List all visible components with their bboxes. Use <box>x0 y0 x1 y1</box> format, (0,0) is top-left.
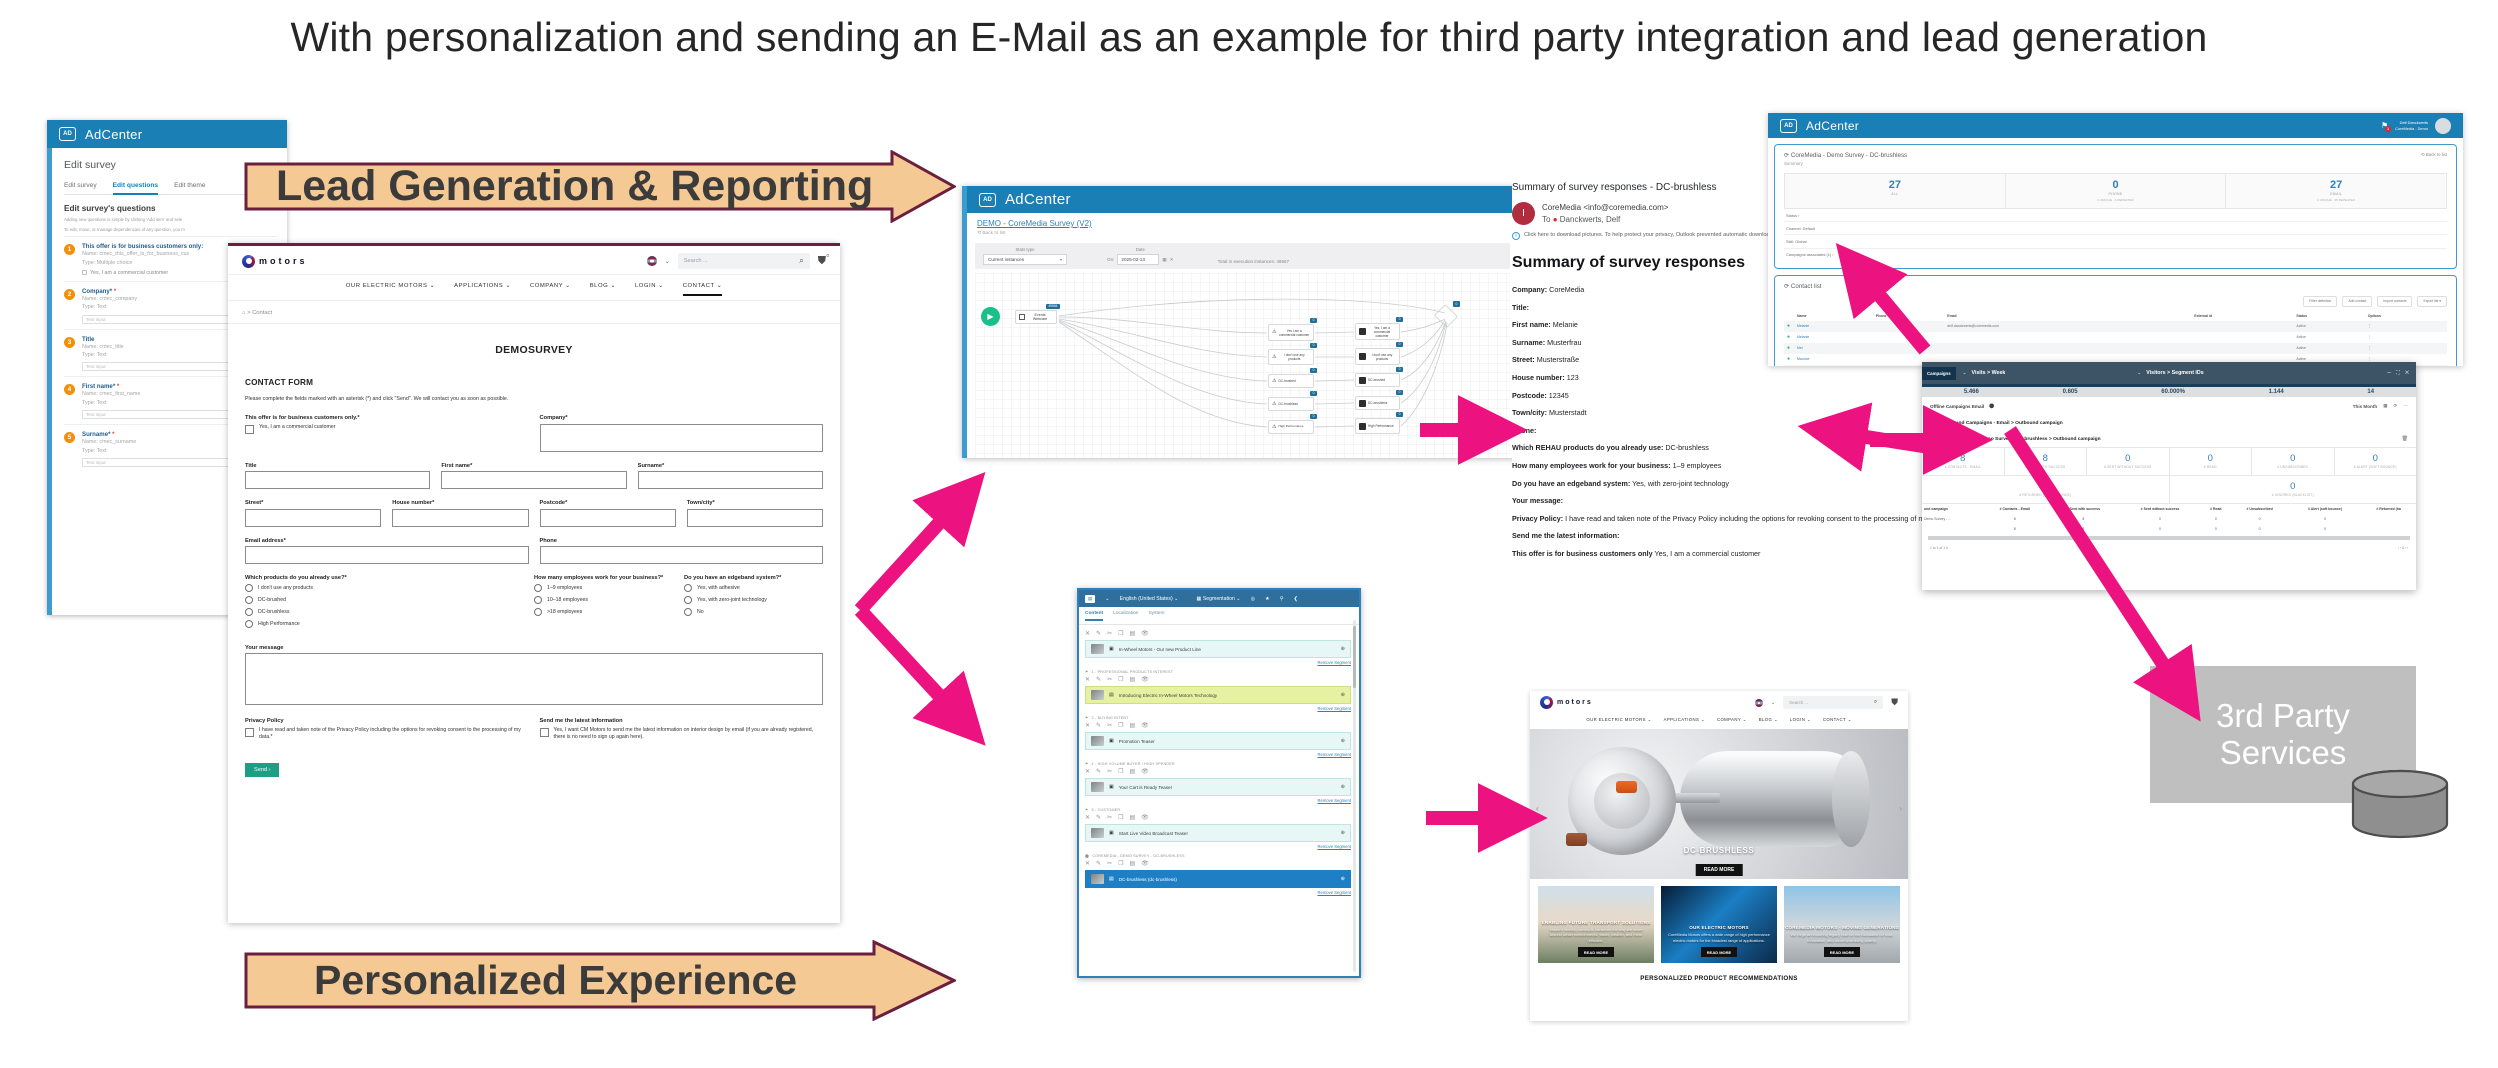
business-customer-checkbox[interactable]: Yes, I am a commercial customer <box>245 424 529 434</box>
products-label: Which products do you already use?* <box>245 575 523 581</box>
delete-icon[interactable]: 🗑 <box>2402 436 2408 442</box>
email-field[interactable] <box>245 546 529 564</box>
recommendation-card[interactable]: OUR ELECTRIC MOTORS CoreMedia Motors off… <box>1661 886 1777 963</box>
nav-item-contact[interactable]: CONTACT ⌄ <box>683 283 722 296</box>
cut-icon[interactable]: ✂ <box>1107 860 1112 867</box>
questions-note-2: To edit, move, or manage dependencies of… <box>64 226 277 233</box>
recommendation-card[interactable]: COREMEDIA MOTORS - MOVING GENERATIONS We… <box>1784 886 1900 963</box>
adcenter-titlebar: AD AdCenter <box>47 120 287 148</box>
table-row[interactable]: Demo Survey - ... 8 8 0 0 0 0 <box>1922 514 2416 524</box>
segment-toolbar[interactable]: ✕✎✂❐▤👁 <box>1085 676 1351 683</box>
segment-header-label: 4 - HIGH VOLUME BUYER / HIGH SPENDER <box>1092 762 1175 766</box>
cut-icon[interactable]: ✂ <box>1107 630 1112 637</box>
dashboard-detail-rows: Status › Channel: Default Skill: Global … <box>1784 209 2447 261</box>
personalized-experience-banner-label: Personalized Experience <box>244 940 956 1021</box>
cut-icon[interactable]: ✂ <box>1107 722 1112 729</box>
edit-icon[interactable]: ✎ <box>1096 814 1101 821</box>
adcenter-app-title: AdCenter <box>85 127 142 142</box>
paste-icon[interactable]: ▤ <box>1129 814 1135 821</box>
hero-caption: DC-BRUSHLESS <box>1530 846 1908 855</box>
globe-icon[interactable]: ⊕ <box>1341 784 1345 790</box>
horizontal-scrollbar[interactable] <box>1928 536 2410 540</box>
edgeband-option[interactable]: Yes, with adhesive <box>684 584 823 592</box>
col-options[interactable]: Options <box>2365 312 2447 321</box>
nav-item-applications[interactable]: APPLICATIONS ⌄ <box>1664 717 1705 723</box>
checkbox-icon[interactable] <box>540 728 549 737</box>
vertical-scrollbar[interactable] <box>1353 620 1356 972</box>
campaign-row-label: ... > CoreMedia - Demo Survey - DC-brush… <box>1941 437 2101 442</box>
edgeband-label: Do you have an edgeband system?* <box>684 575 823 581</box>
nav-item-applications[interactable]: APPLICATIONS ⌄ <box>454 283 511 296</box>
cell-value: 0 <box>2119 524 2201 534</box>
metric-value: 0.605 <box>2063 389 2078 395</box>
campaign-row-expanded[interactable]: ⌄ ... > CoreMedia - Demo Survey - DC-bru… <box>1922 431 2416 447</box>
import-contacts-button[interactable]: Import contacts <box>2377 296 2412 307</box>
summary-value: Yes, with zero-joint technology <box>1630 479 1729 488</box>
surname-field[interactable] <box>638 471 823 489</box>
kpi-value: 0 <box>2170 453 2252 464</box>
editor-content-list: ✕✎✂❐▤👁 ▣ In-Wheel Motors - Our new Produ… <box>1079 625 1359 978</box>
language-flag-icon[interactable] <box>1755 699 1763 707</box>
cart-icon[interactable]: ⛊ <box>1891 697 1898 708</box>
table-row[interactable]: 8 8 0 0 0 0 <box>1922 524 2416 534</box>
card-read-more-button[interactable]: READ MORE <box>1824 947 1860 957</box>
user-org: CoreMedia - Demo <box>2395 126 2428 131</box>
chevron-right-icon[interactable]: ❯ <box>1930 420 1934 426</box>
nav-item-company[interactable]: COMPANY ⌄ <box>530 283 571 296</box>
tab-edit-theme[interactable]: Edit theme <box>174 182 206 189</box>
campaign-kpi: 8# CONTACTS - EMAIL <box>1922 448 2005 475</box>
phone-field[interactable] <box>540 546 824 564</box>
language-selector[interactable]: English (United States) ⌄ <box>1120 596 1179 602</box>
card-text: CoreMedia Motors offers a wide range of … <box>1661 930 1777 947</box>
content-item[interactable]: ▣ Start Live Video Broadcast Teaser ⊕ <box>1085 824 1351 842</box>
tab-edit-survey[interactable]: Edit survey <box>64 182 97 189</box>
col-sent-success[interactable]: # Sent with success <box>2048 504 2119 514</box>
house-number-field[interactable] <box>392 509 528 527</box>
remove-segment-link[interactable]: Remove Segment <box>1085 706 1351 711</box>
cell-email: delf.danckwerts@coremedia.com <box>1944 321 2191 332</box>
cell-phone <box>1873 321 1944 332</box>
radio-icon[interactable] <box>534 584 542 592</box>
eye-icon[interactable]: 👁 <box>1141 630 1149 637</box>
search-input[interactable]: Search ... ⌕ <box>1783 696 1883 709</box>
adcenter-titlebar: AD AdCenter <box>967 186 1518 213</box>
col-unsubscribed[interactable]: # Unsubscribed <box>2231 504 2289 514</box>
checkbox-icon[interactable] <box>245 728 254 737</box>
nav-item-company[interactable]: COMPANY ⌄ <box>1717 717 1747 723</box>
cell-options[interactable]: ⋮ <box>2365 321 2447 332</box>
radio-icon[interactable] <box>534 608 542 616</box>
copy-icon[interactable]: ❐ <box>1118 722 1123 729</box>
detail-row-status[interactable]: Status › <box>1784 209 2447 222</box>
globe-icon[interactable]: ⊕ <box>1341 646 1345 652</box>
col-phone[interactable]: Phone <box>1873 312 1944 321</box>
recommendation-card[interactable]: ENABLING FUTURE TRANSPORT SOLUTIONS Mode… <box>1538 886 1654 963</box>
col-email[interactable]: Email <box>1944 312 2191 321</box>
table-row[interactable]: ●MelActive⋮ <box>1784 343 2447 354</box>
cell-value: 8 <box>1982 524 2048 534</box>
radio-icon[interactable] <box>245 584 253 592</box>
kpi-label: # IGNORED (BLACKLIST) <box>2170 493 2417 497</box>
privacy-checkbox[interactable]: I have read and taken note of the Privac… <box>245 727 529 741</box>
segment-icon: ⬤ <box>1085 854 1089 858</box>
detail-row-campaigns[interactable]: Campaigns associated (1) › <box>1784 249 2447 261</box>
table-row[interactable]: ●Melaniedelf.danckwerts@coremedia.comAct… <box>1784 321 2447 332</box>
cell-email <box>1944 332 2191 343</box>
paste-icon[interactable]: ▤ <box>1129 676 1135 683</box>
search-icon[interactable]: ⌕ <box>799 256 803 266</box>
summary-value: 123 <box>1565 373 1579 382</box>
cart-count: 0 <box>826 253 829 258</box>
copy-icon[interactable]: ❐ <box>1118 676 1123 683</box>
edit-icon[interactable]: ✎ <box>1096 630 1101 637</box>
street-field[interactable] <box>245 509 381 527</box>
language-flag-icon[interactable] <box>647 256 657 266</box>
kpi-value: 0 <box>2006 179 2226 191</box>
remove-segment-link[interactable]: Remove Segment <box>1085 844 1351 849</box>
campaigns-window: Campaigns ⌄ Visits > Week ⌄ Visitors > S… <box>1922 362 2416 590</box>
remove-segment-link[interactable]: Remove Segment <box>1085 890 1351 895</box>
product-option[interactable]: DC-brushless <box>245 608 523 616</box>
nav-item-login[interactable]: LOGIN ⌄ <box>1790 717 1811 723</box>
kpi-value: 27 <box>2226 179 2446 191</box>
bulb-icon[interactable]: ⚲ <box>1280 596 1284 602</box>
remove-segment-link[interactable]: Remove Segment <box>1085 660 1351 665</box>
window-controls[interactable]: ─ ⛶ ✕ <box>2387 370 2416 376</box>
content-item-selected[interactable]: ▤ DC-brushless (dc-brushless) ⊕ <box>1085 870 1351 888</box>
site-nav[interactable]: OUR ELECTRIC MOTORS ⌄ APPLICATIONS ⌄ COM… <box>228 274 840 300</box>
cell-value: 8 <box>1982 514 2048 524</box>
col-campaign[interactable]: und campaign <box>1922 504 1982 514</box>
cell-value: 8 <box>2048 524 2119 534</box>
radio-icon[interactable] <box>684 596 692 604</box>
clear-icon[interactable]: ✕ <box>1085 676 1090 683</box>
phone-label: Phone <box>540 538 824 544</box>
edit-icon[interactable]: ✎ <box>1096 768 1101 775</box>
workflow-canvas[interactable]: ▶ Events Webcare 49584 ⚠ Yes I am a comm… <box>975 273 1510 458</box>
remove-segment-link[interactable]: Remove Segment <box>1085 752 1351 757</box>
col-returned[interactable]: # Returned (ha <box>2361 504 2416 514</box>
summary-value: Yes, I am a commercial customer <box>1653 549 1761 558</box>
eye-icon[interactable]: 👁 <box>1141 814 1149 821</box>
summary-key: Phone: <box>1512 426 1536 435</box>
third-party-line-2: Services <box>2216 735 2350 772</box>
segmentation-selector[interactable]: ▦ Segmentation ⌄ <box>1196 596 1240 602</box>
remove-segment-link[interactable]: Remove Segment <box>1085 798 1351 803</box>
table-header-row: und campaign # Contacts - Email # Sent w… <box>1922 504 2416 514</box>
nav-item-our-electric-motors[interactable]: OUR ELECTRIC MOTORS ⌄ <box>1586 717 1651 723</box>
cell-phone <box>1873 332 1944 343</box>
col-contacts-email[interactable]: # Contacts - Email <box>1982 504 2048 514</box>
question-number: 4 <box>64 384 75 395</box>
clear-date-icon[interactable]: ✕ <box>1170 257 1174 263</box>
stats-type-select[interactable]: Current instances <box>983 254 1067 265</box>
kpi-value: 8 <box>2005 453 2087 464</box>
paste-icon[interactable]: ▤ <box>1129 768 1135 775</box>
radio-icon[interactable] <box>245 596 253 604</box>
eye-icon[interactable]: 👁 <box>1141 722 1149 729</box>
postcode-field[interactable] <box>540 509 676 527</box>
nav-item-contact[interactable]: CONTACT ⌄ <box>1823 717 1852 723</box>
export-list-button[interactable]: Export list ▾ <box>2417 296 2447 307</box>
search-input[interactable]: Search ... ⌕ <box>678 253 810 269</box>
notifications-icon[interactable]: ⚑1 <box>2381 121 2388 130</box>
cell-value: 0 <box>2201 524 2231 534</box>
calendar-icon[interactable]: ▦ <box>1162 257 1166 263</box>
paste-icon[interactable]: ▤ <box>1129 860 1135 867</box>
summary-key: First name: <box>1512 320 1551 329</box>
employees-option-label: 1–9 employees <box>547 585 582 591</box>
view-mode-icon[interactable]: ▤ <box>1085 595 1095 603</box>
metric-visits[interactable]: ⌄ Visits > Week <box>1956 370 2006 376</box>
col-read[interactable]: # Read <box>2201 504 2231 514</box>
cell-value: 0 <box>2231 514 2289 524</box>
adcenter-logo-icon: AD <box>1780 119 1797 133</box>
cell-name[interactable]: Melanie <box>1794 321 1873 332</box>
question-number: 1 <box>64 244 75 255</box>
title-field[interactable] <box>245 471 430 489</box>
nav-item-our-electric-motors[interactable]: OUR ELECTRIC MOTORS ⌄ <box>346 283 435 296</box>
town-field[interactable] <box>687 509 823 527</box>
segment-header: ⚑3 - BUYING INTENT <box>1085 716 1351 720</box>
cell-name[interactable]: Melanie <box>1794 332 1873 343</box>
segment-toolbar[interactable]: ✕✎✂❐▤👁 <box>1085 814 1351 821</box>
globe-icon[interactable]: ⊕ <box>1341 692 1345 698</box>
pagination[interactable]: ‹ ‹ 1 › › <box>2398 546 2408 550</box>
employees-option[interactable]: >18 employees <box>534 608 673 616</box>
chevron-down-icon[interactable]: ⌄ <box>665 258 670 265</box>
content-item[interactable]: ▣ Your Cart is Ready Teaser ⊕ <box>1085 778 1351 796</box>
table-row[interactable]: ●MelanieActive⋮ <box>1784 332 2447 343</box>
segment-header: ⬤COREMEDIA - DEMO SURVEY - DC-BRUSHLESS <box>1085 854 1351 858</box>
summary-value: Melanie <box>1551 320 1578 329</box>
radio-icon[interactable] <box>534 596 542 604</box>
avatar[interactable] <box>2435 118 2451 134</box>
checkbox-icon[interactable] <box>82 270 87 275</box>
content-item[interactable]: ▤ Introducing Electric In-Wheel Motors T… <box>1085 686 1351 704</box>
more-options-icon[interactable]: ⋯ <box>2403 403 2408 409</box>
breadcrumb[interactable]: ⌂ > Contact <box>228 300 840 324</box>
favorite-star-icon[interactable]: ★ <box>1265 596 1270 602</box>
segment-toolbar[interactable]: ✕✎✂❐▤👁 <box>1085 860 1351 867</box>
presence-dot-icon: ● <box>1553 215 1558 224</box>
database-cylinder-icon <box>2348 768 2453 843</box>
adcenter-dashboard-window: AD AdCenter ⚑1 Delf Danckwerts CoreMedia… <box>1768 113 2463 366</box>
question-number: 5 <box>64 432 75 443</box>
copy-icon[interactable]: ❐ <box>1118 630 1123 637</box>
contact-list-title: ⟳ Contact list <box>1784 283 2447 290</box>
globe-icon[interactable]: ⊕ <box>1341 830 1345 836</box>
col-name[interactable]: Name <box>1794 312 1873 321</box>
tab-system[interactable]: System <box>1148 611 1164 621</box>
avatar-icon: ⬤ <box>1989 403 1994 409</box>
segment-icon: ⚑ <box>1085 762 1089 766</box>
edgeband-option[interactable]: Yes, with zero-joint technology <box>684 596 823 604</box>
summary-value: CoreMedia <box>1547 285 1584 294</box>
collapse-icon[interactable]: ❮ <box>1294 596 1298 602</box>
cut-icon[interactable]: ✂ <box>1107 676 1112 683</box>
eye-icon[interactable]: 👁 <box>1141 860 1149 867</box>
cut-icon[interactable]: ✂ <box>1107 768 1112 775</box>
campaigns-window-title: Campaigns <box>1922 367 1956 380</box>
copy-icon[interactable]: ❐ <box>1118 814 1123 821</box>
card-read-more-button[interactable]: READ MORE <box>1701 947 1737 957</box>
campaign-row-collapsed[interactable]: ❯ Outbound Campaigns - Email > Outbound … <box>1922 415 2416 431</box>
cm-motors-logo[interactable]: motors <box>1540 696 1593 709</box>
summary-key: Send me the latest information: <box>1512 531 1619 540</box>
tab-edit-questions[interactable]: Edit questions <box>113 182 158 195</box>
content-type-icon: ▣ <box>1109 738 1114 744</box>
clear-icon[interactable]: ✕ <box>1085 768 1090 775</box>
logo-mark-icon <box>242 255 255 268</box>
copy-icon[interactable]: ❐ <box>1118 860 1123 867</box>
cell-name[interactable]: Maurice <box>1794 354 1873 365</box>
card-text: Modern mobility concepts transform the w… <box>1538 925 1654 947</box>
editor-toolbar: ▤ ⌄ English (United States) ⌄ ▦ Segmenta… <box>1079 590 1359 607</box>
content-item[interactable]: ▣ Promotion Teaser ⊕ <box>1085 732 1351 750</box>
col-sent-failure[interactable]: # Sent without success <box>2119 504 2201 514</box>
hero-read-more-button[interactable]: READ MORE <box>1696 864 1743 876</box>
company-field[interactable] <box>540 424 824 452</box>
back-to-list-link[interactable]: ⟲ Back to list <box>977 231 1508 236</box>
globe-icon[interactable]: ⊕ <box>1341 876 1345 882</box>
workflow-title[interactable]: DEMO - CoreMedia Survey (V2) <box>977 219 1508 228</box>
segment-toolbar[interactable]: ✕✎✂❐▤👁 <box>1085 722 1351 729</box>
preview-site-nav[interactable]: OUR ELECTRIC MOTORS ⌄ APPLICATIONS ⌄ COM… <box>1530 712 1908 729</box>
cart-icon[interactable]: ⛊0 <box>818 255 826 268</box>
newsletter-label: Send me the latest information <box>540 718 824 724</box>
edit-icon[interactable]: ✎ <box>1096 722 1101 729</box>
kpi-phone: 0 PHONE 0 UNIQUE · 0 REPEATED <box>2006 174 2227 208</box>
nav-item-login[interactable]: LOGIN ⌄ <box>635 283 664 296</box>
chevron-down-icon[interactable]: ⌄ <box>1930 436 1934 442</box>
checkbox-icon[interactable] <box>245 425 254 434</box>
segment-header: ⚑4 - HIGH VOLUME BUYER / HIGH SPENDER <box>1085 762 1351 766</box>
col-external-id[interactable]: External id <box>2191 312 2293 321</box>
filter-definition-button[interactable]: Filter definition <box>2303 296 2337 307</box>
info-icon: i <box>1512 232 1520 240</box>
radio-icon[interactable] <box>245 608 253 616</box>
motor-terminal-orange <box>1616 781 1637 793</box>
content-type-icon: ▣ <box>1109 830 1114 836</box>
kpi-value: 0 <box>2335 453 2417 464</box>
tab-localization[interactable]: Localization <box>1113 611 1138 621</box>
search-icon[interactable]: ⌕ <box>1874 699 1877 706</box>
arrow-form-to-editor-down <box>860 610 960 718</box>
product-option-label: DC-brushed <box>258 597 286 603</box>
eye-icon[interactable]: 👁 <box>1141 768 1149 775</box>
radio-icon[interactable] <box>245 620 253 628</box>
paste-icon[interactable]: ▤ <box>1129 722 1135 729</box>
eye-icon[interactable]: 👁 <box>1141 676 1149 683</box>
col-status[interactable]: Status <box>2293 312 2364 321</box>
contact-list-actions[interactable]: Filter definition Add contact Import con… <box>1784 296 2447 307</box>
employees-option[interactable]: 10–18 employees <box>534 596 673 604</box>
kpi-label: # READ <box>2170 465 2252 469</box>
content-item[interactable]: ▣ In-Wheel Motors - Our new Product Line… <box>1085 640 1351 658</box>
edgeband-option[interactable]: No <box>684 608 823 616</box>
cell-name[interactable]: Mel <box>1794 343 1873 354</box>
product-option[interactable]: I don't use any products <box>245 584 523 592</box>
editor-tabs[interactable]: Content Localization System <box>1079 607 1359 625</box>
edit-icon[interactable]: ✎ <box>1096 860 1101 867</box>
cut-icon[interactable]: ✂ <box>1107 814 1112 821</box>
radio-icon[interactable] <box>684 608 692 616</box>
cell-name[interactable]: Mani <box>1794 365 1873 366</box>
scrollbar-thumb[interactable] <box>1353 626 1356 688</box>
cell-options[interactable]: ⋮ <box>2365 332 2447 343</box>
campaign-kpi-strip-2: 0# RETURNED (HARD BOUNCE) 0# IGNORED (BL… <box>1922 476 2416 504</box>
employees-label: How many employees work for your busines… <box>534 575 673 581</box>
carousel-prev-icon[interactable]: ‹ <box>1536 804 1539 813</box>
cm-motors-logo[interactable]: motors <box>242 255 308 268</box>
message-textarea[interactable] <box>245 653 823 705</box>
metric-value: 60.000% <box>2161 389 2185 395</box>
kpi-label: # SENT WITHOUT SUCCESS <box>2087 465 2169 469</box>
lead-generation-banner-label: Lead Generation & Reporting <box>244 150 956 223</box>
privacy-label: Privacy Policy <box>245 718 529 724</box>
summary-key: House number: <box>1512 373 1565 382</box>
detail-row-channel: Channel: Default <box>1784 222 2447 235</box>
chevron-down-icon[interactable]: ⌄ <box>1771 700 1775 706</box>
segment-toolbar[interactable]: ✕✎✂❐▤👁 <box>1085 630 1351 637</box>
cell-options[interactable]: ⋮ <box>2365 343 2447 354</box>
send-button[interactable]: Send › <box>245 763 279 777</box>
nav-item-blog[interactable]: BLOG ⌄ <box>590 283 616 296</box>
product-option[interactable]: DC-brushed <box>245 596 523 604</box>
clear-icon[interactable]: ✕ <box>1085 860 1090 867</box>
clear-icon[interactable]: ✕ <box>1085 630 1090 637</box>
first-name-field[interactable] <box>441 471 626 489</box>
paste-icon[interactable]: ▤ <box>1129 630 1135 637</box>
nav-item-blog[interactable]: BLOG ⌄ <box>1759 717 1778 723</box>
chevron-down-icon[interactable]: ⌄ <box>1105 596 1109 602</box>
add-contact-button[interactable]: Add contact <box>2342 296 2372 307</box>
employees-option[interactable]: 1–9 employees <box>534 584 673 592</box>
newsletter-checkbox[interactable]: Yes, I want CM Motors to send me the lat… <box>540 727 824 741</box>
carousel-next-icon[interactable]: › <box>1899 804 1902 813</box>
period-selector[interactable]: This Month <box>2353 404 2378 409</box>
product-option[interactable]: High Performance <box>245 620 523 628</box>
recommendation-cards: ENABLING FUTURE TRANSPORT SOLUTIONS Mode… <box>1530 879 1908 967</box>
calendar-icon[interactable]: ▦ <box>2383 403 2387 409</box>
email-content-editor-window: ▤ ⌄ English (United States) ⌄ ▦ Segmenta… <box>1077 588 1361 978</box>
edit-icon[interactable]: ✎ <box>1096 676 1101 683</box>
thumbnail <box>1091 690 1104 700</box>
preview-icon[interactable]: ◎ <box>1251 596 1256 602</box>
refresh-icon[interactable]: ⟳ <box>2394 403 2398 409</box>
edgeband-option-label: Yes, with adhesive <box>697 585 740 591</box>
card-read-more-button[interactable]: READ MORE <box>1578 947 1614 957</box>
campaign-kpi-strip: 8# CONTACTS - EMAIL 8# SENT WITH SUCCESS… <box>1922 447 2416 476</box>
status-dot-icon: ● <box>1784 354 1794 365</box>
col-alert[interactable]: # Alert (soft bounce) <box>2289 504 2362 514</box>
tab-content[interactable]: Content <box>1085 611 1103 621</box>
cell-status: Active <box>2293 332 2364 343</box>
clear-icon[interactable]: ✕ <box>1085 722 1090 729</box>
clear-icon[interactable]: ✕ <box>1085 814 1090 821</box>
edgeband-option-label: Yes, with zero-joint technology <box>697 597 767 603</box>
radio-icon[interactable] <box>684 584 692 592</box>
metric-visitors[interactable]: ⌄ Visitors > Segment IDs <box>2130 370 2203 376</box>
segment-toolbar[interactable]: ✕✎✂❐▤👁 <box>1085 768 1351 775</box>
back-to-list-link[interactable]: ⟲ Back to list <box>2421 152 2447 158</box>
date-input[interactable]: 2025-02-13 <box>1117 254 1159 265</box>
copy-icon[interactable]: ❐ <box>1118 768 1123 775</box>
campaign-table-footer: 1 to 1 of 1 it ‹ ‹ 1 › › <box>1922 542 2416 554</box>
globe-icon[interactable]: ⊕ <box>1341 738 1345 744</box>
